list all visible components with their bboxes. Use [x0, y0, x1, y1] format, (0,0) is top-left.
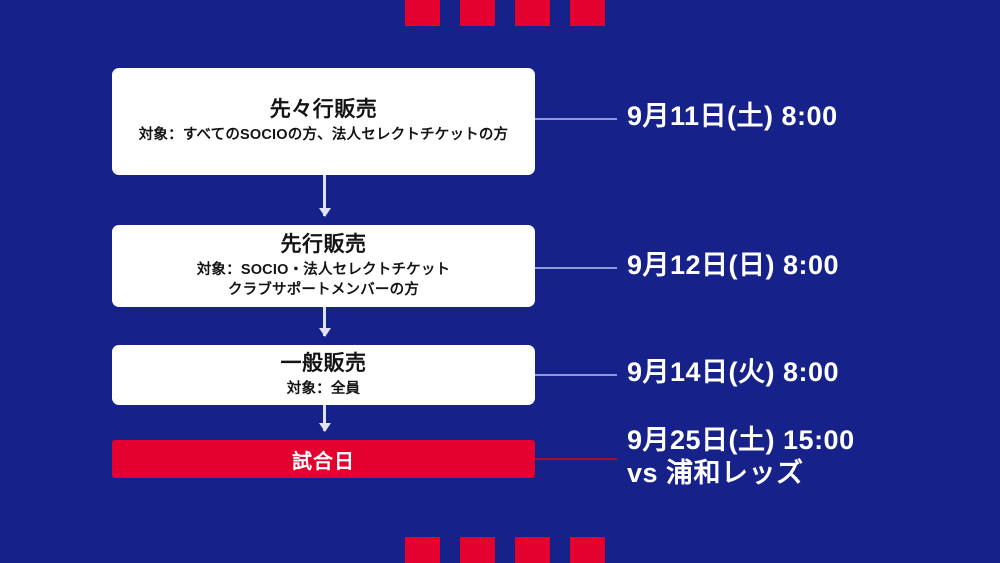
connector-line-1	[535, 118, 617, 120]
step-box-senzen-kou-hanbai: 先々行販売 対象：すべてのSOCIOの方、法人セレクトチケットの方	[112, 68, 535, 175]
connector-line-2	[535, 267, 617, 269]
step-title: 一般販売	[281, 351, 367, 377]
step-subtitle: 対象：すべてのSOCIOの方、法人セレクトチケットの方	[139, 126, 509, 146]
step-subtitle: 対象：全員	[287, 380, 361, 400]
match-day-title: 試合日	[292, 445, 355, 474]
decorative-square-top-4	[570, 0, 605, 26]
decorative-square-bottom-1	[405, 537, 440, 563]
decorative-square-top-2	[460, 0, 495, 26]
decorative-square-bottom-4	[570, 537, 605, 563]
connector-line-4	[535, 458, 617, 460]
step-title: 先行販売	[281, 232, 367, 258]
step-title: 先々行販売	[270, 97, 378, 123]
step-subtitle: 対象：SOCIO・法人セレクトチケット	[197, 261, 451, 281]
date-label-1: 9月11日(土) 8:00	[627, 100, 838, 133]
date-label-2: 9月12日(日) 8:00	[627, 249, 839, 282]
decorative-square-top-3	[515, 0, 550, 26]
date-label-4: 9月25日(土) 15:00 vs 浦和レッズ	[627, 424, 855, 490]
arrow-down-icon-3	[323, 405, 326, 431]
step-box-senko-hanbai: 先行販売 対象：SOCIO・法人セレクトチケット クラブサポートメンバーの方	[112, 225, 535, 307]
match-date: 9月25日(土) 15:00	[627, 425, 855, 455]
connector-line-3	[535, 374, 617, 376]
date-label-3: 9月14日(火) 8:00	[627, 356, 839, 389]
step-box-ippan-hanbai: 一般販売 対象：全員	[112, 345, 535, 405]
arrow-down-icon-2	[323, 307, 326, 336]
step-subtitle-line2: クラブサポートメンバーの方	[228, 281, 419, 301]
infographic-canvas: 先々行販売 対象：すべてのSOCIOの方、法人セレクトチケットの方 9月11日(…	[0, 0, 1000, 563]
step-box-match-day: 試合日	[112, 440, 535, 478]
decorative-square-bottom-3	[515, 537, 550, 563]
match-opponent: vs 浦和レッズ	[627, 457, 855, 490]
decorative-square-top-1	[405, 0, 440, 26]
arrow-down-icon-1	[323, 175, 326, 216]
decorative-square-bottom-2	[460, 537, 495, 563]
